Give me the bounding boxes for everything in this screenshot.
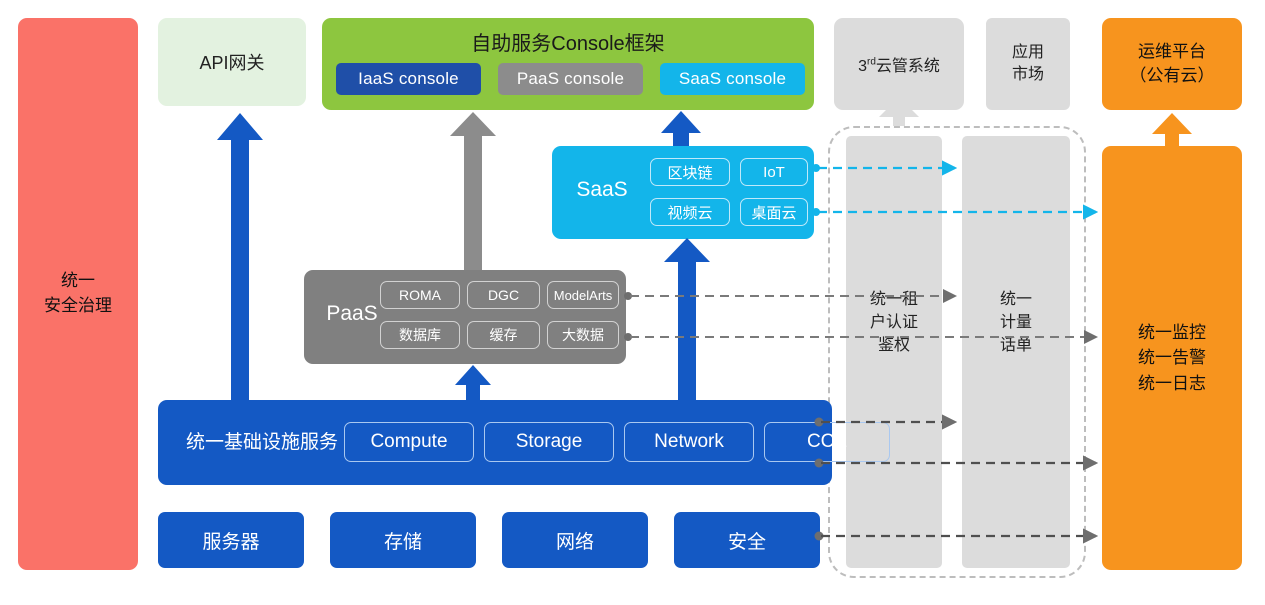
unified-monitoring-alarm-log-column: 统一监控 统一告警 统一日志 xyxy=(1102,146,1242,570)
saas-chip-video-cloud[interactable]: 视频云 xyxy=(650,198,730,226)
paas-chip-modelarts[interactable]: ModelArts xyxy=(547,281,619,309)
hardware-box-security[interactable]: 安全 xyxy=(674,512,820,568)
architecture-diagram: 统一 安全治理 API网关 自助服务Console框架 IaaS console… xyxy=(0,0,1265,605)
paas-chip-roma[interactable]: ROMA xyxy=(380,281,460,309)
ops-column-line-2: 统一告警 xyxy=(1138,345,1206,371)
unified-tenant-auth-column: 统一租 户认证 鉴权 xyxy=(846,136,942,568)
infrastructure-label: 统一基础设施服务 xyxy=(172,427,352,454)
governance-line-2: 安全治理 xyxy=(44,294,112,319)
metering-column-line-1: 统一 xyxy=(962,288,1070,311)
auth-column-line-1: 统一租 xyxy=(846,288,942,311)
metering-column-line-2: 计量 xyxy=(962,311,1070,334)
third-cloud-prefix: 3 xyxy=(858,58,867,75)
paas-chip-cache[interactable]: 缓存 xyxy=(467,321,540,349)
paas-label: PaaS xyxy=(316,302,388,326)
app-market-line-1: 应用 xyxy=(1012,42,1044,64)
third-cloud-suffix: 云管系统 xyxy=(876,58,940,75)
governance-line-1: 统一 xyxy=(44,269,112,294)
console-framework-title: 自助服务Console框架 xyxy=(322,27,814,55)
unified-security-governance-block: 统一 安全治理 xyxy=(18,18,138,570)
iaas-console-chip[interactable]: IaaS console xyxy=(336,63,481,95)
ops-platform-public-cloud-block: 运维平台 （公有云） xyxy=(1102,18,1242,110)
ops-top-line-1: 运维平台 xyxy=(1130,40,1215,64)
infra-chip-network[interactable]: Network xyxy=(624,422,754,462)
auth-column-line-2: 户认证 xyxy=(846,311,942,334)
saas-label: SaaS xyxy=(566,178,638,202)
ops-column-line-1: 统一监控 xyxy=(1138,320,1206,346)
app-market-line-2: 市场 xyxy=(1012,64,1044,86)
hardware-box-network[interactable]: 网络 xyxy=(502,512,648,568)
saas-chip-desktop-cloud[interactable]: 桌面云 xyxy=(740,198,808,226)
arrow-infra-to-api-gateway xyxy=(217,113,263,400)
metering-column-line-3: 话单 xyxy=(962,334,1070,357)
infra-chip-cce[interactable]: CCE xyxy=(764,422,890,462)
paas-chip-dgc[interactable]: DGC xyxy=(467,281,540,309)
arrow-ops-column-to-ops-platform xyxy=(1152,113,1192,146)
saas-chip-iot[interactable]: IoT xyxy=(740,158,808,186)
ops-top-line-2: （公有云） xyxy=(1130,64,1215,88)
paas-block: PaaS ROMA DGC ModelArts 数据库 缓存 大数据 xyxy=(304,270,626,364)
unified-infrastructure-service-bar: 统一基础设施服务 Compute Storage Network CCE xyxy=(158,400,832,485)
auth-column-line-3: 鉴权 xyxy=(846,334,942,357)
arrow-infra-to-paas xyxy=(455,365,491,400)
infra-chip-compute[interactable]: Compute xyxy=(344,422,474,462)
unified-metering-column: 统一 计量 话单 xyxy=(962,136,1070,568)
arrow-paas-to-console xyxy=(450,112,496,270)
paas-chip-bigdata[interactable]: 大数据 xyxy=(547,321,619,349)
saas-console-chip[interactable]: SaaS console xyxy=(660,63,805,95)
infra-chip-storage[interactable]: Storage xyxy=(484,422,614,462)
paas-chip-database[interactable]: 数据库 xyxy=(380,321,460,349)
arrow-saas-to-saas-console xyxy=(661,111,701,146)
app-market-block: 应用 市场 xyxy=(986,18,1070,110)
third-party-cloud-management-block: 3rd云管系统 xyxy=(834,18,964,110)
ops-column-line-3: 统一日志 xyxy=(1138,371,1206,397)
hardware-box-server[interactable]: 服务器 xyxy=(158,512,304,568)
arrow-infra-to-saas xyxy=(664,238,710,400)
third-cloud-superscript: rd xyxy=(867,57,876,68)
self-service-console-framework: 自助服务Console框架 IaaS console PaaS console … xyxy=(322,18,814,110)
api-gateway-block: API网关 xyxy=(158,18,306,106)
api-gateway-label: API网关 xyxy=(199,49,264,75)
hardware-box-storage[interactable]: 存储 xyxy=(330,512,476,568)
saas-block: SaaS 区块链 IoT 视频云 桌面云 xyxy=(552,146,814,239)
saas-chip-blockchain[interactable]: 区块链 xyxy=(650,158,730,186)
paas-console-chip[interactable]: PaaS console xyxy=(498,63,643,95)
